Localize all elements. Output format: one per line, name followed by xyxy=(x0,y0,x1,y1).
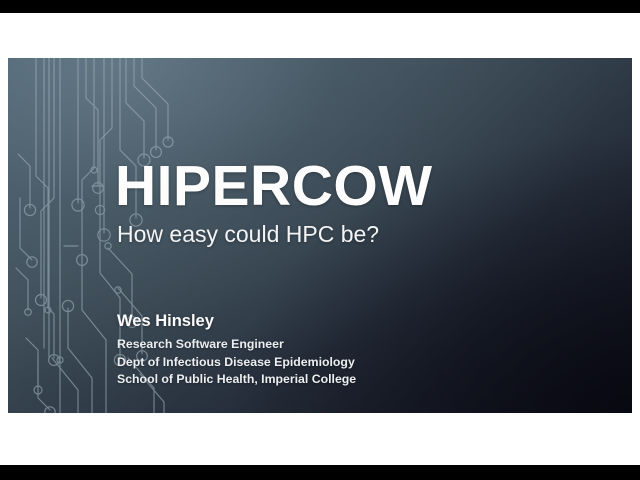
letterbox-bar-top xyxy=(0,0,640,13)
video-frame: HIPERCOW How easy could HPC be? Wes Hins… xyxy=(0,0,640,480)
author-affiliation-line-2: Dept of Infectious Disease Epidemiology xyxy=(117,354,547,372)
title-block: HIPERCOW How easy could HPC be? xyxy=(115,158,615,249)
page-subtitle: How easy could HPC be? xyxy=(117,219,615,249)
title-slide: HIPERCOW How easy could HPC be? Wes Hins… xyxy=(8,58,632,413)
author-affiliation-line-3: School of Public Health, Imperial Colleg… xyxy=(117,371,547,389)
letterbox-bar-bottom xyxy=(0,465,640,480)
author-affiliation-line-1: Research Software Engineer xyxy=(117,336,547,354)
page-title: HIPERCOW xyxy=(115,158,615,214)
author-block: Wes Hinsley Research Software Engineer D… xyxy=(117,310,547,389)
author-name: Wes Hinsley xyxy=(117,310,547,332)
